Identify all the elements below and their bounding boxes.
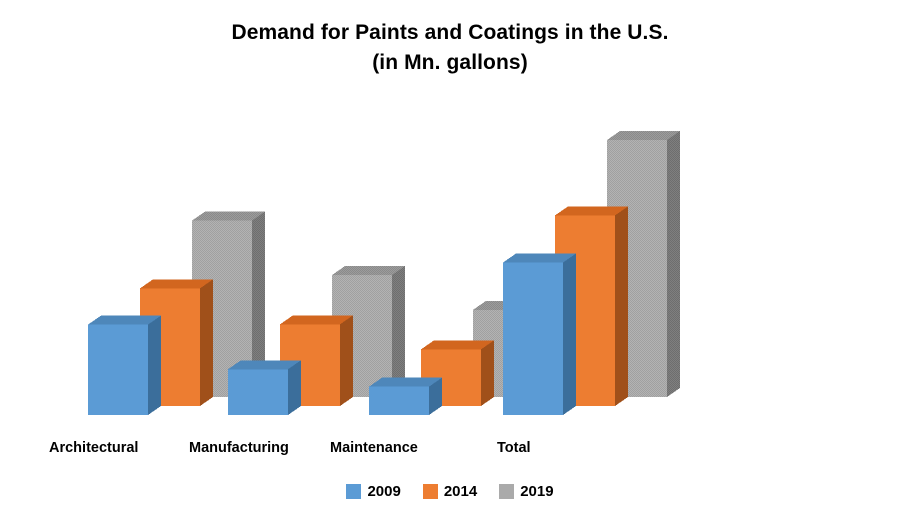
bar-side-face [615, 206, 628, 406]
bar-front-face [369, 387, 429, 415]
bar-side-face [563, 254, 576, 415]
plot-area [0, 0, 900, 470]
bar-side-face [667, 131, 680, 397]
legend-item-2019[interactable]: 2019 [499, 484, 553, 499]
category-label-manufacturing: Manufacturing [189, 440, 289, 456]
legend-item-2014[interactable]: 2014 [423, 484, 477, 499]
bar-total-2009[interactable] [503, 254, 576, 415]
bars-svg [0, 0, 900, 470]
bar-front-face [503, 263, 563, 415]
bar-front-face [88, 325, 148, 415]
bar-side-face [148, 316, 161, 415]
category-label-architectural: Architectural [49, 440, 138, 456]
bar-side-face [481, 340, 494, 406]
bar-side-face [200, 279, 213, 406]
chart-legend: 2009 2014 2019 [0, 484, 900, 499]
legend-item-2009[interactable]: 2009 [346, 484, 400, 499]
bar-side-face [392, 266, 405, 397]
bar-manufacturing-2009[interactable] [228, 360, 301, 415]
legend-label-2009: 2009 [367, 484, 400, 499]
legend-label-2014: 2014 [444, 484, 477, 499]
category-label-maintenance: Maintenance [330, 440, 418, 456]
bar-architectural-2009[interactable] [88, 316, 161, 415]
legend-label-2019: 2019 [520, 484, 553, 499]
chart-container: Demand for Paints and Coatings in the U.… [0, 0, 900, 525]
bar-front-face [228, 369, 288, 415]
bar-side-face [288, 360, 301, 415]
category-label-total: Total [497, 440, 531, 456]
legend-swatch-2019 [499, 484, 514, 499]
legend-swatch-2009 [346, 484, 361, 499]
bar-side-face [340, 315, 353, 406]
bar-maintenance-2009[interactable] [369, 378, 442, 415]
legend-swatch-2014 [423, 484, 438, 499]
